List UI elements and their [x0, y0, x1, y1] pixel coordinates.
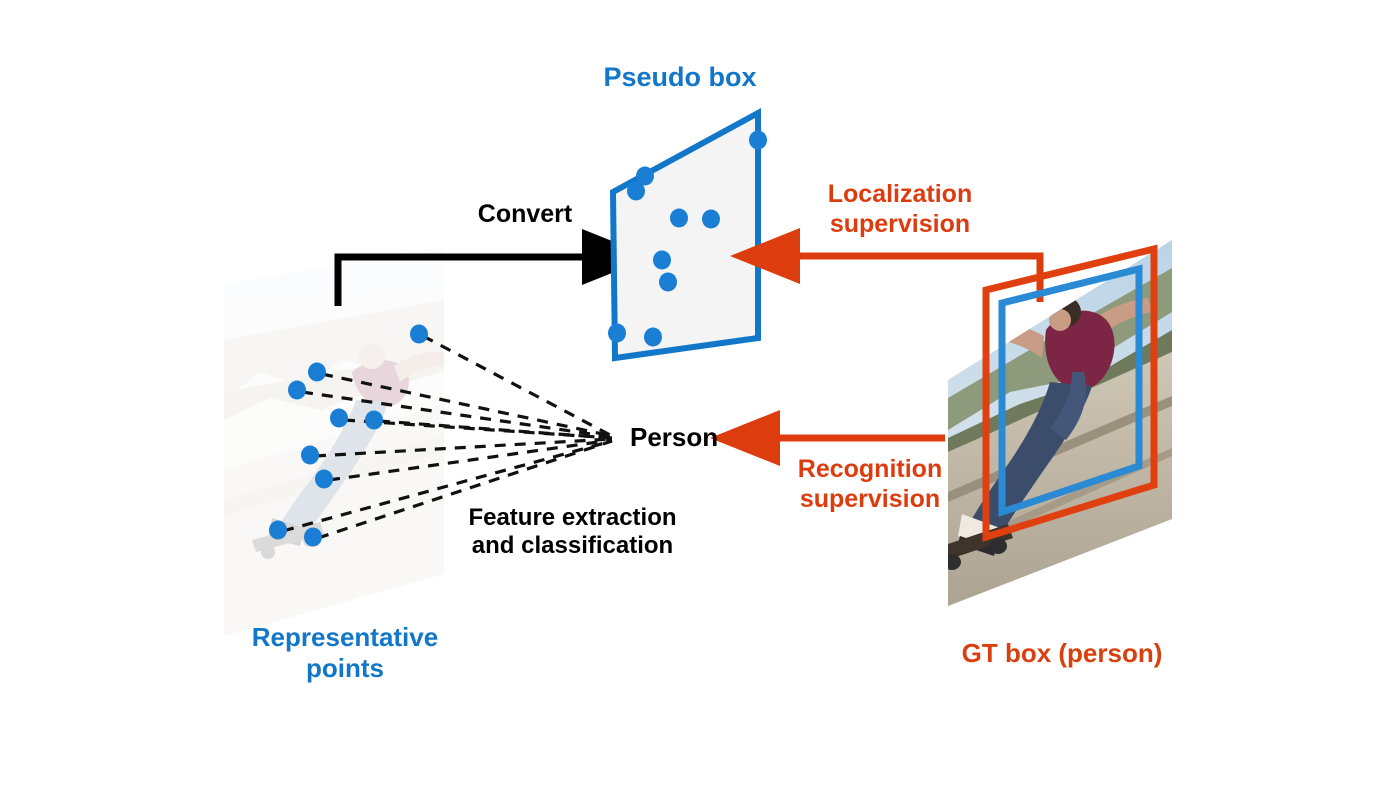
localization-supervision-label: Localization supervision [775, 180, 1025, 239]
gt-box-label: GT box (person) [912, 638, 1212, 669]
diagram-root: Pseudo box Convert Localization supervis… [0, 0, 1400, 788]
person-label: Person [630, 422, 718, 453]
localization-arrow [793, 256, 1040, 302]
feature-extraction-label: Feature extraction and classification [440, 504, 705, 561]
representative-points-label: Representative points [225, 622, 465, 683]
diagram-canvas [0, 0, 1400, 788]
pseudo-box-label: Pseudo box [560, 62, 800, 94]
recognition-supervision-label: Recognition supervision [745, 455, 995, 514]
pseudo-box-plane [608, 113, 767, 358]
convert-label: Convert [420, 200, 630, 230]
gt-image-plane [936, 230, 1180, 620]
